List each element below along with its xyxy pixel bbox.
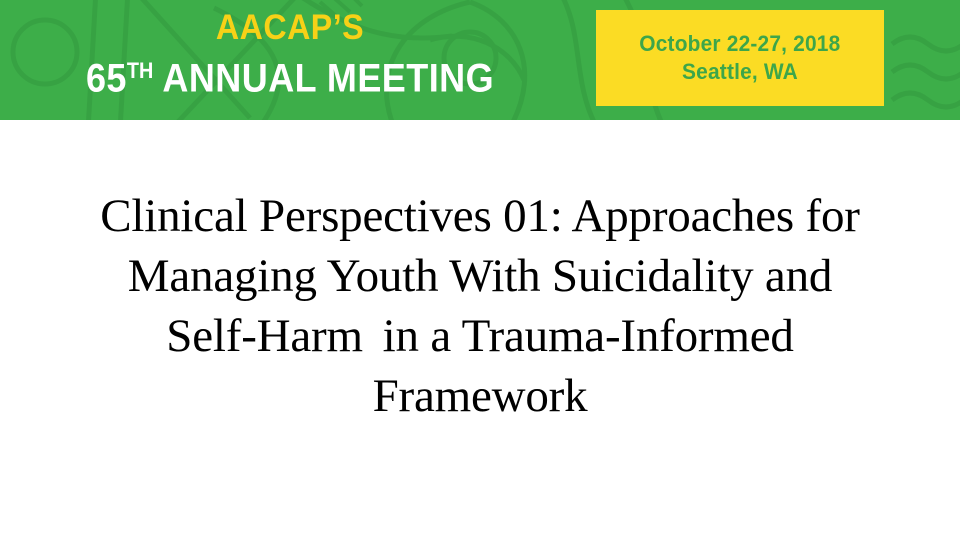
title-line-3: Self-Harmin a Trauma-Informed: [24, 306, 936, 366]
meeting-dates: October 22-27, 2018: [639, 30, 840, 58]
meeting-label: ANNUAL MEETING: [162, 57, 494, 101]
session-title: Clinical Perspectives 01: Approaches for…: [24, 186, 936, 426]
meeting-title: 65TH ANNUAL MEETING: [29, 48, 551, 102]
header-content: AACAP’S 65TH ANNUAL MEETING October 22-2…: [0, 0, 960, 120]
title-line-1: Clinical Perspectives 01: Approaches for: [24, 186, 936, 246]
header-banner: AACAP’S 65TH ANNUAL MEETING October 22-2…: [0, 0, 960, 120]
meeting-ordinal-suffix: TH: [127, 58, 153, 83]
title-line-3-part-b: in a Trauma-Informed: [383, 310, 794, 362]
title-line-2: Managing Youth With Suicidality and: [24, 246, 936, 306]
date-location-box: October 22-27, 2018 Seattle, WA: [596, 10, 884, 106]
aacap-logo-lockup: AACAP’S 65TH ANNUAL MEETING: [0, 8, 580, 102]
meeting-location: Seattle, WA: [682, 58, 798, 86]
title-line-4: Framework: [24, 366, 936, 426]
title-line-3-part-a: Self-Harm: [166, 310, 363, 362]
organization-name: AACAP’S: [23, 8, 557, 48]
meeting-ordinal: 65: [86, 57, 127, 101]
presentation-slide: AACAP’S 65TH ANNUAL MEETING October 22-2…: [0, 0, 960, 540]
